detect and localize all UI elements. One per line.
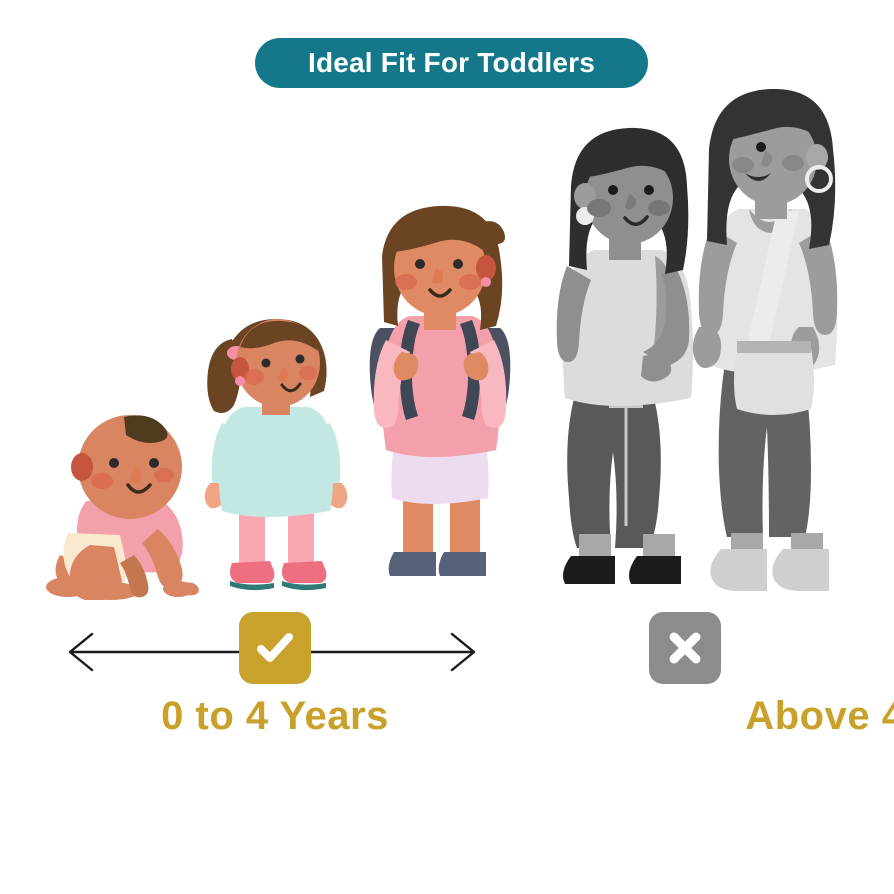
figure-school-girl-with-backpack: [358, 200, 523, 600]
figure-grayscale-adult-woman: [683, 85, 855, 600]
check-icon: [254, 627, 296, 669]
cross-badge: [649, 612, 721, 684]
age-label-not-recommended: Above 4 Years: [470, 686, 894, 746]
title-banner: Ideal Fit For Toddlers: [255, 38, 648, 88]
age-labels-row: 0 to 4 Years Above 4 Years: [0, 686, 894, 746]
cross-icon: [665, 628, 705, 668]
figure-toddler-girl: [196, 315, 356, 600]
page-title: Ideal Fit For Toddlers: [308, 49, 595, 77]
check-badge: [239, 612, 311, 684]
infographic-canvas: Ideal Fit For Toddlers: [0, 0, 894, 894]
age-label-recommended: 0 to 4 Years: [0, 686, 550, 746]
figure-scene: [0, 90, 894, 600]
age-range-indicator-row: [0, 612, 894, 690]
